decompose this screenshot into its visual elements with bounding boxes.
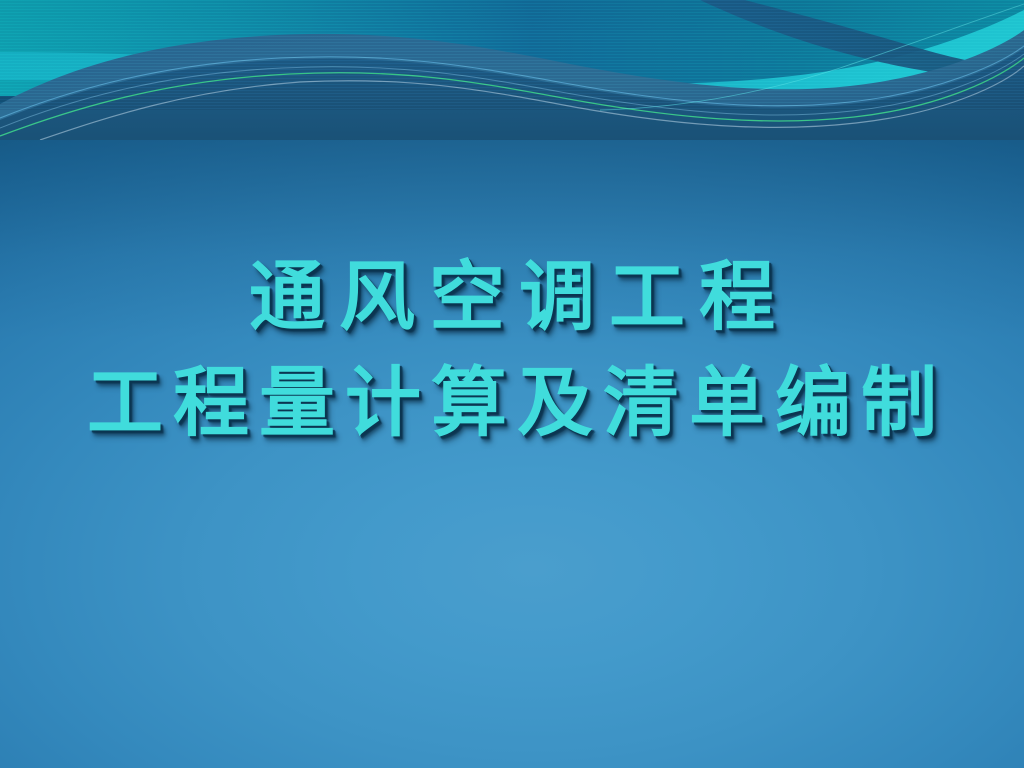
title-line-2: 工程量计算及清单编制 (0, 358, 1024, 448)
title-placeholder[interactable]: 通风空调工程 工程量计算及清单编制 (0, 252, 1024, 447)
title-line-1: 通风空调工程 (0, 252, 1024, 342)
presentation-slide: 通风空调工程 工程量计算及清单编制 (0, 0, 1024, 768)
